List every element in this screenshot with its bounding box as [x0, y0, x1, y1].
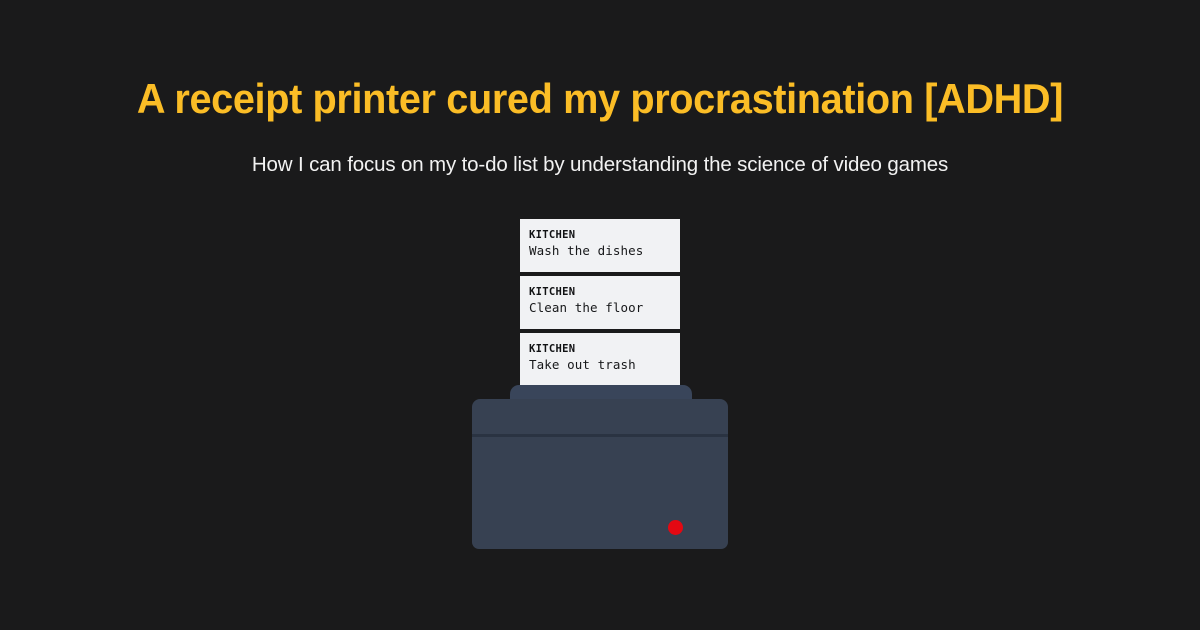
- receipt-task-text: Wash the dishes: [529, 241, 671, 260]
- receipt-stack: KITCHEN Wash the dishes KITCHEN Clean th…: [520, 219, 680, 386]
- receipt-printer-illustration: KITCHEN Wash the dishes KITCHEN Clean th…: [0, 0, 1200, 630]
- receipt-category-label: KITCHEN: [529, 343, 671, 355]
- receipt-category-label: KITCHEN: [529, 286, 671, 298]
- printer-seam-divider: [472, 434, 728, 437]
- printer-body: [472, 399, 728, 549]
- receipt-task-text: Clean the floor: [529, 298, 671, 317]
- receipt-task-text: Take out trash: [529, 355, 671, 374]
- receipt-slip: KITCHEN Wash the dishes: [520, 219, 680, 272]
- receipt-category-label: KITCHEN: [529, 229, 671, 241]
- power-led-indicator-icon: [668, 520, 683, 535]
- receipt-slip: KITCHEN Take out trash: [520, 333, 680, 386]
- receipt-slip: KITCHEN Clean the floor: [520, 276, 680, 329]
